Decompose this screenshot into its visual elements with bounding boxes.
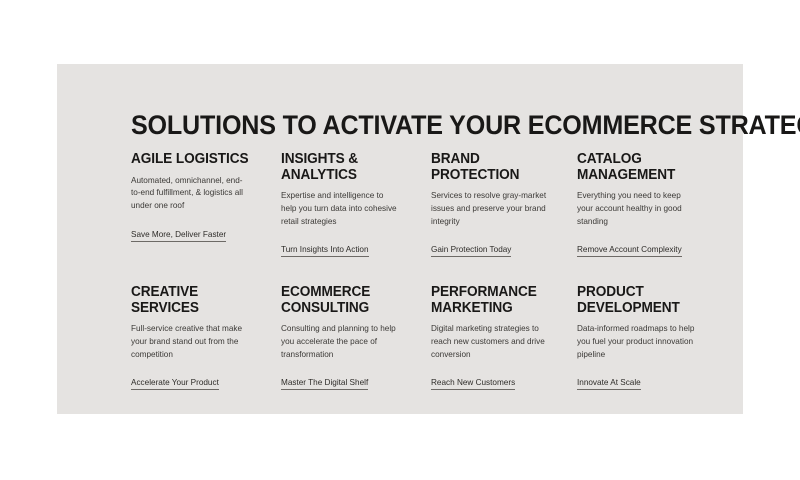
- solution-card-title: CREATIVE SERVICES: [131, 285, 255, 316]
- solution-card-description: Consulting and planning to help you acce…: [281, 323, 399, 361]
- page-title: SOLUTIONS TO ACTIVATE YOUR ECOMMERCE STR…: [131, 110, 800, 140]
- solution-card-brand-protection[interactable]: BRAND PROTECTION Services to resolve gra…: [431, 152, 563, 257]
- solution-card-ecommerce-consulting[interactable]: ECOMMERCE CONSULTING Consulting and plan…: [281, 285, 413, 390]
- solution-card-title: ECOMMERCE CONSULTING: [281, 285, 405, 316]
- solution-card-link[interactable]: Remove Account Complexity: [577, 244, 682, 257]
- solution-card-description: Expertise and intelligence to help you t…: [281, 190, 399, 228]
- solution-card-creative-services[interactable]: CREATIVE SERVICES Full-service creative …: [131, 285, 263, 390]
- solution-card-description: Data-informed roadmaps to help you fuel …: [577, 323, 695, 361]
- solution-card-description: Services to resolve gray-market issues a…: [431, 190, 549, 228]
- solution-card-performance-marketing[interactable]: PERFORMANCE MARKETING Digital marketing …: [431, 285, 563, 390]
- solution-card-link[interactable]: Innovate At Scale: [577, 377, 641, 390]
- solution-card-link[interactable]: Master The Digital Shelf: [281, 377, 368, 390]
- solution-card-title: CATALOG MANAGEMENT: [577, 152, 701, 183]
- solution-card-link[interactable]: Gain Protection Today: [431, 244, 511, 257]
- solution-card-link[interactable]: Save More, Deliver Faster: [131, 229, 226, 242]
- solution-card-description: Full-service creative that make your bra…: [131, 323, 249, 361]
- solution-card-title: PRODUCT DEVELOPMENT: [577, 285, 701, 316]
- solution-card-link[interactable]: Accelerate Your Product: [131, 377, 219, 390]
- solution-card-product-development[interactable]: PRODUCT DEVELOPMENT Data-informed roadma…: [577, 285, 709, 390]
- solution-card-insights-analytics[interactable]: INSIGHTS & ANALYTICS Expertise and intel…: [281, 152, 413, 257]
- solution-card-title: AGILE LOGISTICS: [131, 152, 255, 168]
- solution-card-catalog-management[interactable]: CATALOG MANAGEMENT Everything you need t…: [577, 152, 709, 257]
- solution-card-title: PERFORMANCE MARKETING: [431, 285, 555, 316]
- solution-card-agile-logistics[interactable]: AGILE LOGISTICS Automated, omnichannel, …: [131, 152, 263, 242]
- solution-card-title: INSIGHTS & ANALYTICS: [281, 152, 405, 183]
- solution-card-link[interactable]: Turn Insights Into Action: [281, 244, 369, 257]
- solution-card-link[interactable]: Reach New Customers: [431, 377, 515, 390]
- solution-card-description: Everything you need to keep your account…: [577, 190, 695, 228]
- solution-card-description: Digital marketing strategies to reach ne…: [431, 323, 549, 361]
- solutions-panel: SOLUTIONS TO ACTIVATE YOUR ECOMMERCE STR…: [57, 64, 743, 414]
- solution-card-description: Automated, omnichannel, end-to-end fulfi…: [131, 175, 249, 213]
- solution-card-title: BRAND PROTECTION: [431, 152, 555, 183]
